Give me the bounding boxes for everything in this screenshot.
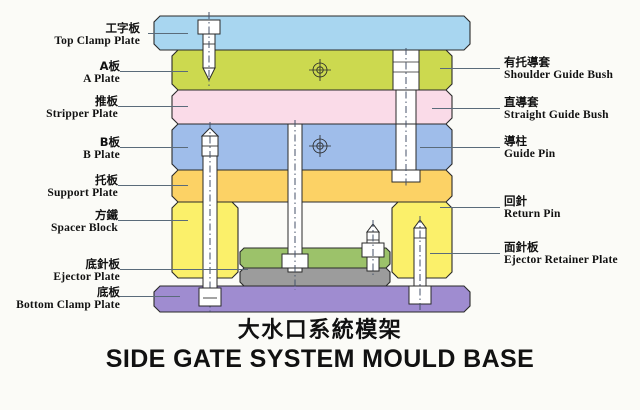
- label-cn: 底板: [16, 286, 120, 299]
- label-spacer-block: 方鐵 Spacer Block: [51, 209, 118, 235]
- label-ejector-retainer-plate: 面針板 Ejector Retainer Plate: [504, 241, 618, 267]
- title-english: SIDE GATE SYSTEM MOULD BASE: [0, 345, 640, 374]
- leader-line: [430, 253, 500, 254]
- label-return-pin: 回針 Return Pin: [504, 195, 561, 221]
- leader-line: [118, 106, 188, 107]
- label-en: Ejector Plate: [53, 271, 120, 284]
- label-en: Return Pin: [504, 208, 561, 221]
- label-bottom-clamp-plate: 底板 Bottom Clamp Plate: [16, 286, 120, 312]
- label-cn: 推板: [46, 95, 118, 108]
- leader-line: [420, 147, 500, 148]
- diagram-canvas: .pl{stroke:#2a2a2a;stroke-width:1.1;} .s…: [0, 0, 640, 410]
- label-cn: 有托導套: [504, 56, 613, 69]
- leader-line: [118, 185, 188, 186]
- label-top-clamp-plate: 工字板 Top Clamp Plate: [54, 22, 140, 48]
- label-ejector-plate: 底針板 Ejector Plate: [53, 258, 120, 284]
- label-en: Support Plate: [47, 187, 118, 200]
- label-cn: B板: [83, 136, 120, 149]
- leader-line: [120, 269, 248, 270]
- leader-line: [120, 71, 188, 72]
- leader-line: [118, 220, 188, 221]
- label-cn: 回針: [504, 195, 561, 208]
- leader-line: [120, 147, 188, 148]
- label-shoulder-guide-bush: 有托導套 Shoulder Guide Bush: [504, 56, 613, 82]
- label-en: Straight Guide Bush: [504, 109, 609, 122]
- label-straight-guide-bush: 直導套 Straight Guide Bush: [504, 96, 609, 122]
- title-chinese: 大水口系統模架: [0, 312, 640, 344]
- label-en: Top Clamp Plate: [54, 35, 140, 48]
- leader-line: [120, 296, 180, 297]
- label-guide-pin: 導柱 Guide Pin: [504, 135, 555, 161]
- leader-line: [440, 68, 500, 69]
- label-cn: 面針板: [504, 241, 618, 254]
- label-support-plate: 托板 Support Plate: [47, 174, 118, 200]
- label-cn: 直導套: [504, 96, 609, 109]
- label-cn: 工字板: [54, 22, 140, 35]
- label-cn: 導柱: [504, 135, 555, 148]
- screw-bottom-clamp-left: [199, 288, 221, 306]
- label-en: Bottom Clamp Plate: [16, 299, 120, 312]
- label-b-plate: B板 B Plate: [83, 136, 120, 162]
- label-cn: 方鐵: [51, 209, 118, 222]
- leader-line: [440, 207, 500, 208]
- leader-line: [148, 33, 188, 34]
- label-en: A Plate: [83, 73, 120, 86]
- leader-line: [432, 108, 500, 109]
- label-a-plate: A板 A Plate: [83, 60, 120, 86]
- label-cn: A板: [83, 60, 120, 73]
- label-en: B Plate: [83, 149, 120, 162]
- label-en: Spacer Block: [51, 222, 118, 235]
- label-stripper-plate: 推板 Stripper Plate: [46, 95, 118, 121]
- label-en: Stripper Plate: [46, 108, 118, 121]
- guide-pin-assembly: [392, 48, 420, 186]
- label-cn: 托板: [47, 174, 118, 187]
- label-en: Guide Pin: [504, 148, 555, 161]
- label-cn: 底針板: [53, 258, 120, 271]
- label-en: Shoulder Guide Bush: [504, 69, 613, 82]
- label-en: Ejector Retainer Plate: [504, 254, 618, 267]
